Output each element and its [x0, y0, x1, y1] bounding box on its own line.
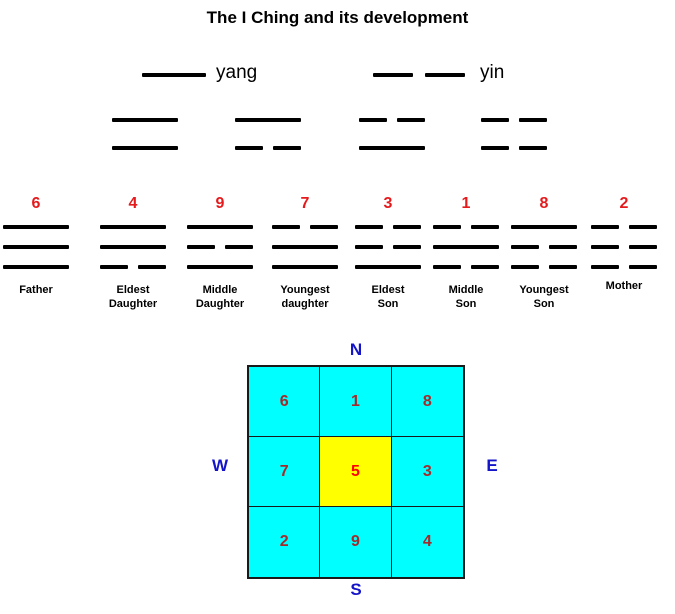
trigram-number: 6 [3, 195, 69, 213]
magic-square-cell-value: 5 [351, 463, 360, 481]
bigram [359, 118, 425, 152]
yin-line-icon [481, 118, 547, 122]
yang-line-icon [3, 265, 69, 269]
compass-label-west: W [205, 456, 235, 476]
trigram-lines [3, 225, 69, 273]
yang-line-icon [272, 245, 338, 249]
trigram-label: YoungestSon [511, 283, 577, 311]
legend-label-yang: yang [216, 62, 257, 84]
broken-line-icon [373, 73, 465, 77]
yin-line-icon [591, 245, 657, 249]
compass-label-south: S [247, 580, 465, 600]
legend-label-yin: yin [480, 62, 504, 84]
magic-square-cell[interactable]: 8 [392, 367, 463, 437]
trigram-lines [355, 225, 421, 273]
yin-line-icon [359, 118, 425, 122]
magic-square-cell-value: 7 [280, 463, 289, 481]
magic-square-cell[interactable]: 3 [392, 437, 463, 507]
trigram-lines [511, 225, 577, 273]
yin-line-icon [272, 225, 338, 229]
trigram-label: Youngestdaughter [272, 283, 338, 311]
yang-line-icon [112, 118, 178, 122]
trigram-lines [272, 225, 338, 273]
trigram-lines [433, 225, 499, 273]
compass-label-north: N [247, 340, 465, 360]
magic-square-cell-value: 1 [351, 393, 360, 411]
magic-square-cell[interactable]: 7 [249, 437, 320, 507]
yang-line-icon [355, 265, 421, 269]
yang-line-icon [187, 265, 253, 269]
solid-line-icon [142, 73, 206, 77]
yin-line-icon [591, 265, 657, 269]
yang-line-icon [3, 225, 69, 229]
magic-square-cell[interactable]: 2 [249, 507, 320, 577]
magic-square-grid: 618753294 [247, 365, 465, 579]
yang-line-icon [511, 225, 577, 229]
page-title: The I Ching and its development [0, 8, 675, 28]
trigram-lines [591, 225, 657, 273]
magic-square-cell-value: 3 [423, 463, 432, 481]
trigram-number: 9 [187, 195, 253, 213]
trigram-number: 8 [511, 195, 577, 213]
yin-line-icon [355, 225, 421, 229]
magic-square-cell-value: 2 [280, 533, 289, 551]
magic-square-cell[interactable]: 9 [320, 507, 391, 577]
yin-line-icon [355, 245, 421, 249]
trigram-lines [100, 225, 166, 273]
yang-line-icon [433, 245, 499, 249]
trigram-number: 2 [591, 195, 657, 213]
yin-line-icon [511, 265, 577, 269]
trigram-lines [187, 225, 253, 273]
yang-line-icon [100, 245, 166, 249]
magic-square-cell-value: 4 [423, 533, 432, 551]
yin-line-icon [433, 265, 499, 269]
yin-line-icon [433, 225, 499, 229]
trigram-label: EldestSon [355, 283, 421, 311]
bigram [481, 118, 547, 152]
yang-line-icon [235, 118, 301, 122]
yang-line-icon [100, 225, 166, 229]
lo-shu-magic-square: 618753294 [247, 365, 465, 579]
trigram-number: 3 [355, 195, 421, 213]
trigram-label: Mother [591, 279, 657, 293]
trigram-label: Father [3, 283, 69, 297]
bigram [235, 118, 301, 152]
yang-line-icon [359, 146, 425, 150]
trigram-label: MiddleSon [433, 283, 499, 311]
yin-line-icon [100, 265, 166, 269]
yin-line-icon [187, 245, 253, 249]
yin-line-icon [481, 146, 547, 150]
magic-square-cell[interactable]: 6 [249, 367, 320, 437]
yin-line-icon [235, 146, 301, 150]
yin-line-icon [591, 225, 657, 229]
trigram-number: 1 [433, 195, 499, 213]
trigram-label: EldestDaughter [100, 283, 166, 311]
trigram-label: MiddleDaughter [187, 283, 253, 311]
magic-square-cell-value: 6 [280, 393, 289, 411]
bigram [112, 118, 178, 152]
magic-square-cell[interactable]: 5 [320, 437, 391, 507]
trigram-number: 7 [272, 195, 338, 213]
magic-square-cell[interactable]: 4 [392, 507, 463, 577]
yang-line-icon [112, 146, 178, 150]
trigram-number: 4 [100, 195, 166, 213]
magic-square-cell[interactable]: 1 [320, 367, 391, 437]
yang-line-icon [272, 265, 338, 269]
magic-square-cell-value: 8 [423, 393, 432, 411]
yin-line-icon [511, 245, 577, 249]
yang-line-icon [3, 245, 69, 249]
compass-label-east: E [477, 456, 507, 476]
magic-square-cell-value: 9 [351, 533, 360, 551]
yang-line-icon [187, 225, 253, 229]
